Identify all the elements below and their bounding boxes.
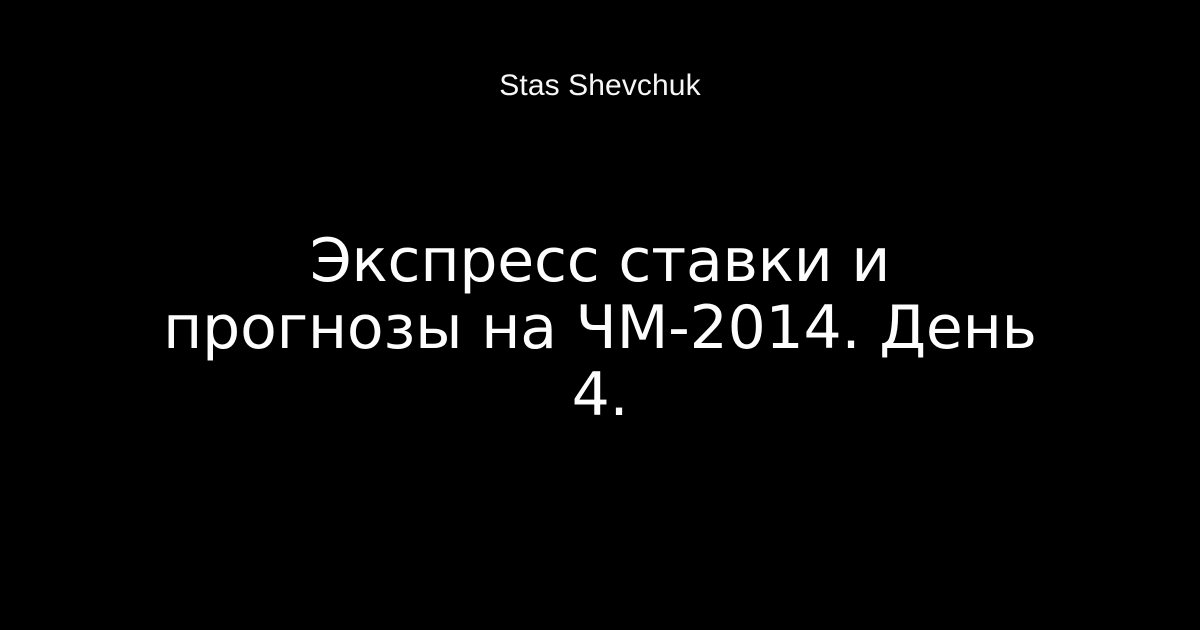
article-title-block: Экспресс ставки и прогнозы на ЧМ-2014. Д… bbox=[160, 228, 1040, 430]
author-name: Stas Shevchuk bbox=[499, 68, 700, 104]
share-card: Stas Shevchuk Экспресс ставки и прогнозы… bbox=[0, 0, 1200, 630]
page-title: Экспресс ставки и прогнозы на ЧМ-2014. Д… bbox=[160, 228, 1040, 430]
author-byline: Stas Shevchuk bbox=[0, 68, 1200, 104]
